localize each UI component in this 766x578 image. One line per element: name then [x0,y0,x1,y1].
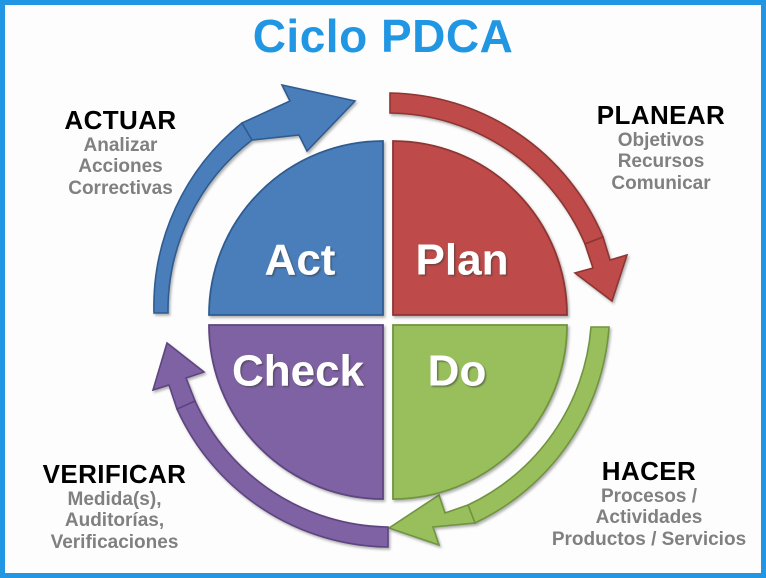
label-verificar-line-3: Verificaciones [17,532,212,553]
quadrant-act-label: Act [265,236,336,285]
label-block-hacer: HACER Procesos / Actividades Productos /… [527,457,766,550]
quadrant-plan-label: Plan [416,236,509,285]
label-actuar-heading: ACTUAR [33,106,208,135]
label-planear-line-1: Objetivos [561,130,761,151]
label-block-actuar: ACTUAR Analizar Acciones Correctivas [33,106,208,199]
label-planear-line-3: Comunicar [561,173,761,194]
label-hacer-heading: HACER [527,457,766,486]
label-actuar-line-2: Acciones [33,156,208,177]
label-verificar-heading: VERIFICAR [17,460,212,489]
label-actuar-line-1: Analizar [33,135,208,156]
pdca-diagram-page: Ciclo PDCA [0,0,766,578]
quadrant-act[interactable]: Act [209,141,383,315]
label-hacer-line-3: Productos / Servicios [527,529,766,550]
quadrant-check-label: Check [232,347,365,396]
label-hacer-line-1: Procesos / [527,486,766,507]
label-verificar-line-1: Medida(s), [17,489,212,510]
quadrant-do-label: Do [428,347,487,396]
label-verificar-line-2: Auditorías, [17,510,212,531]
label-planear-line-2: Recursos [561,151,761,172]
label-planear-heading: PLANEAR [561,101,761,130]
label-hacer-line-2: Actividades [527,507,766,528]
label-block-planear: PLANEAR Objetivos Recursos Comunicar [561,101,761,194]
label-actuar-line-3: Correctivas [33,178,208,199]
label-block-verificar: VERIFICAR Medida(s), Auditorías, Verific… [17,460,212,553]
